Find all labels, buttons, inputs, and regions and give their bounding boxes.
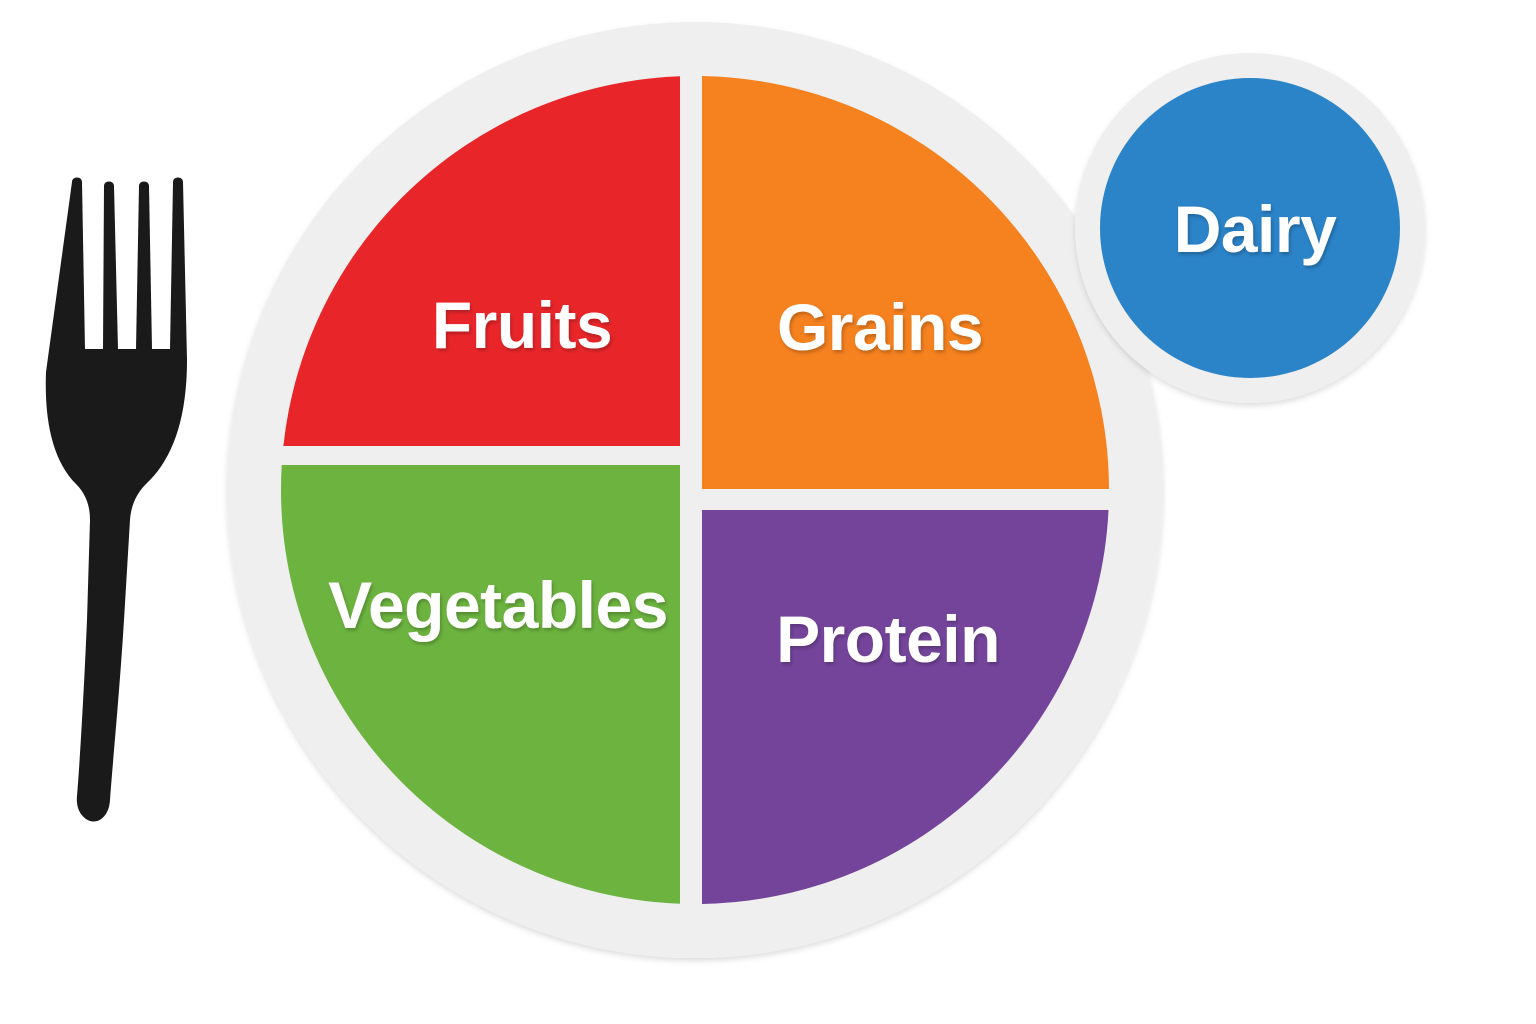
fork-icon: [46, 178, 187, 822]
segment-label-grains: Grains: [777, 290, 983, 364]
myplate-canvas: Fruits Grains Vegetables Protein Dairy: [0, 0, 1536, 1024]
myplate-graphic: Fruits Grains Vegetables Protein Dairy: [0, 0, 1536, 1024]
dairy-label-group: Dairy: [1174, 192, 1337, 266]
segment-label-dairy: Dairy: [1174, 192, 1337, 266]
segment-label-fruits: Fruits: [432, 288, 612, 362]
dairy-group[interactable]: Dairy: [1075, 53, 1425, 403]
fork-shape: [46, 178, 187, 822]
segment-label-protein: Protein: [776, 602, 1000, 676]
segment-label-vegetables: Vegetables: [328, 568, 668, 642]
